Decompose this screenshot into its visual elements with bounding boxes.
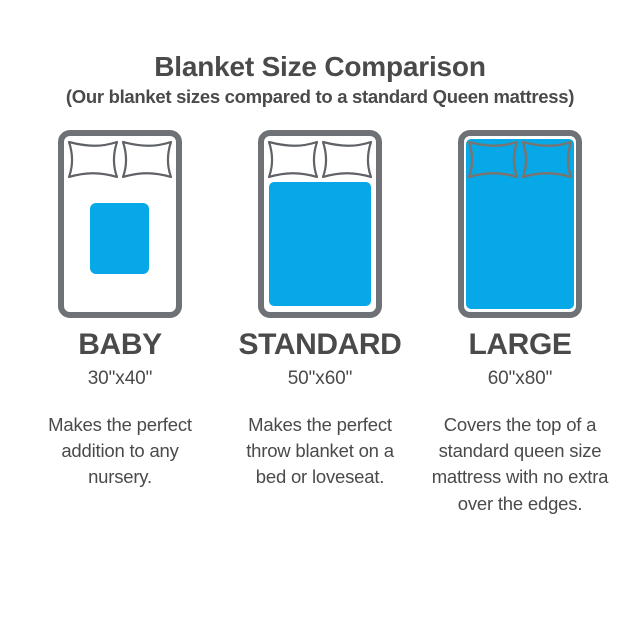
size-dimensions-large: 60"x80" [488,369,553,388]
bed-top-view-icon [458,130,582,318]
bed-illustration-baby [58,130,182,318]
size-dimensions-standard: 50"x60" [288,369,353,388]
size-name-large: LARGE [468,330,571,360]
bed-top-view-icon [258,130,382,318]
size-description-standard: Makes the perfect throw blanket on a bed… [230,412,410,491]
size-description-large: Covers the top of a standard queen size … [430,412,610,517]
header: Blanket Size Comparison (Our blanket siz… [0,0,640,108]
comparison-column-standard: STANDARD 50"x60" Makes the perfect throw… [226,130,414,517]
comparison-columns: BABY 30"x40" Makes the perfect addition … [0,130,640,517]
page-title: Blanket Size Comparison [0,52,640,81]
size-description-baby: Makes the perfect addition to any nurser… [30,412,210,491]
size-name-standard: STANDARD [239,330,402,360]
bed-illustration-standard [258,130,382,318]
bed-top-view-icon [58,130,182,318]
comparison-column-baby: BABY 30"x40" Makes the perfect addition … [26,130,214,517]
page-subtitle: (Our blanket sizes compared to a standar… [0,87,640,107]
size-dimensions-baby: 30"x40" [88,369,153,388]
bed-illustration-large [458,130,582,318]
comparison-column-large: LARGE 60"x80" Covers the top of a standa… [426,130,614,517]
blanket-size-comparison-infographic: Blanket Size Comparison (Our blanket siz… [0,0,640,640]
size-name-baby: BABY [78,330,161,360]
